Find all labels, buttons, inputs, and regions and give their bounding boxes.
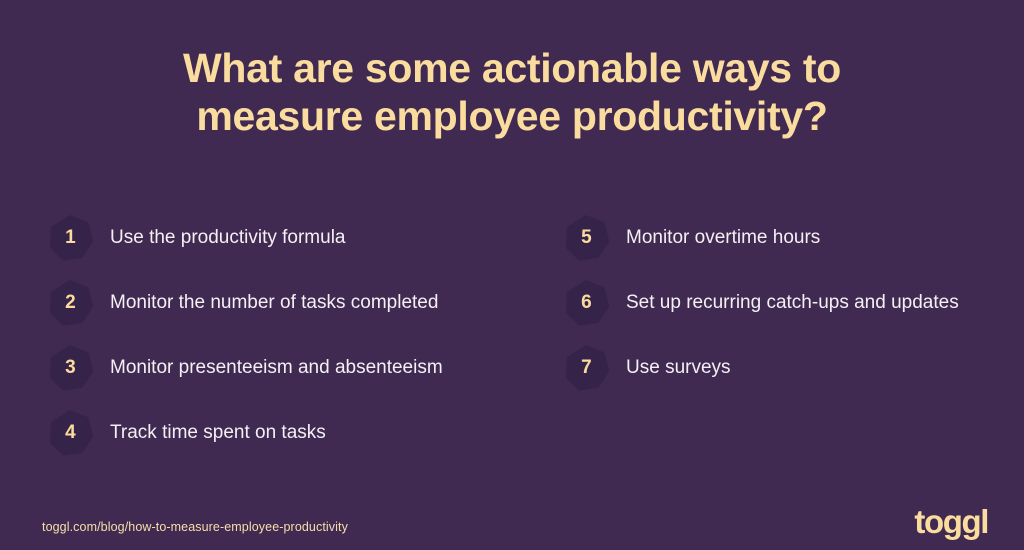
badge-number: 1: [65, 228, 76, 247]
number-badge: 4: [48, 410, 93, 455]
list-column-right: 5 Monitor overtime hours 6 Set up recurr…: [515, 205, 982, 465]
list-item-label: Use surveys: [609, 356, 731, 380]
page-title: What are some actionable ways to measure…: [0, 44, 1024, 141]
list-item-label: Set up recurring catch-ups and updates: [609, 291, 959, 315]
badge-number: 2: [65, 293, 76, 312]
list-column-left: 1 Use the productivity formula 2 Monitor…: [48, 205, 515, 465]
number-badge: 1: [48, 215, 93, 260]
page-title-line-2: measure employee productivity?: [90, 92, 934, 140]
list-item-label: Monitor presenteeism and absenteeism: [93, 356, 443, 380]
number-badge: 7: [564, 345, 609, 390]
list-item: 4 Track time spent on tasks: [48, 400, 515, 465]
badge-number: 7: [581, 358, 592, 377]
number-badge: 5: [564, 215, 609, 260]
list-columns: 1 Use the productivity formula 2 Monitor…: [0, 205, 1024, 465]
toggl-logo: toggl: [914, 505, 988, 538]
badge-number: 4: [65, 423, 76, 442]
badge-number: 6: [581, 293, 592, 312]
number-badge: 3: [48, 345, 93, 390]
list-item: 6 Set up recurring catch-ups and updates: [564, 270, 982, 335]
list-item: 5 Monitor overtime hours: [564, 205, 982, 270]
badge-number: 5: [581, 228, 592, 247]
list-item-label: Monitor the number of tasks completed: [93, 291, 438, 315]
list-item: 7 Use surveys: [564, 335, 982, 400]
page-title-line-1: What are some actionable ways to: [90, 44, 934, 92]
number-badge: 6: [564, 280, 609, 325]
badge-number: 3: [65, 358, 76, 377]
list-item: 3 Monitor presenteeism and absenteeism: [48, 335, 515, 400]
number-badge: 2: [48, 280, 93, 325]
list-item-label: Use the productivity formula: [93, 226, 346, 250]
list-item-label: Monitor overtime hours: [609, 226, 820, 250]
source-url: toggl.com/blog/how-to-measure-employee-p…: [42, 520, 348, 534]
list-item: 1 Use the productivity formula: [48, 205, 515, 270]
list-item: 2 Monitor the number of tasks completed: [48, 270, 515, 335]
list-item-label: Track time spent on tasks: [93, 421, 326, 445]
